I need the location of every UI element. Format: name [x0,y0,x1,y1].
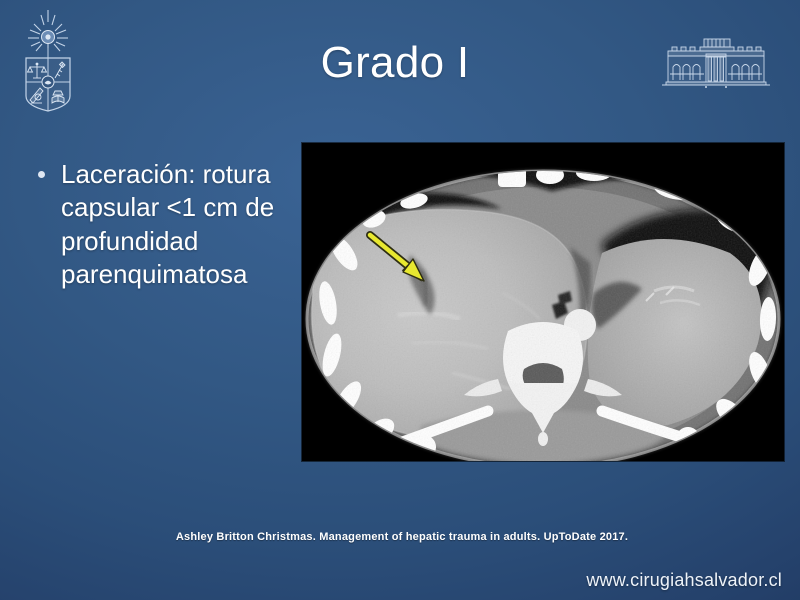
slide-title: Grado I [120,38,670,89]
source-citation: Ashley Britton Christmas. Management of … [100,531,704,543]
presentation-slide: Grado I [0,0,800,600]
hospital-building-icon [648,35,784,97]
bullet-marker-icon [38,171,45,178]
abdominal-ct-image [302,143,784,461]
bullet-item-text: Laceración: rotura capsular <1 cm de pro… [61,158,306,291]
footer-website-url[interactable]: www.cirugiahsalvador.cl [586,570,782,591]
bullet-list: Laceración: rotura capsular <1 cm de pro… [38,158,306,291]
university-crest-icon [18,8,78,113]
